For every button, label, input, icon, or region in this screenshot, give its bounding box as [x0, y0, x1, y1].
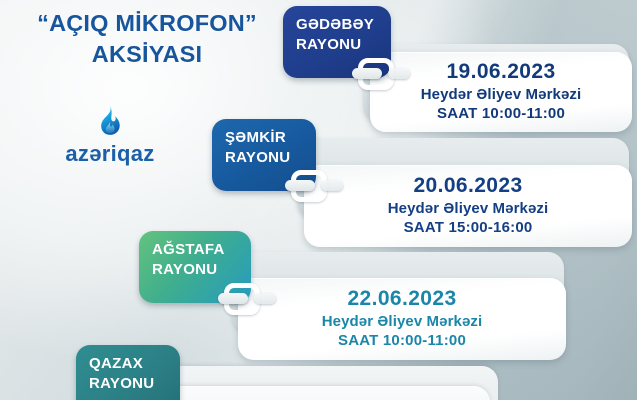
- district-tag-qazax[interactable]: QAZAX RAYONU: [76, 345, 180, 400]
- event-venue-3: Heydər Əliyev Mərkəzi: [322, 313, 483, 332]
- event-date-3: 22.06.2023: [347, 287, 456, 311]
- headline-line-2: AKSİYASI: [8, 39, 286, 70]
- event-date-2: 20.06.2023: [413, 174, 522, 198]
- event-date-1: 19.06.2023: [446, 60, 555, 84]
- azeriqaz-logo: azəriqaz: [54, 104, 166, 165]
- event-time-3: SAAT 10:00-11:00: [338, 332, 466, 351]
- district-tag-gedebey-line2: RAYONU: [296, 35, 379, 55]
- district-tag-qazax-line2: RAYONU: [89, 374, 168, 394]
- event-card-4[interactable]: [150, 386, 490, 400]
- event-card-2[interactable]: 20.06.2023 Heydər Əliyev Mərkəzi SAAT 15…: [304, 165, 632, 247]
- district-tag-agstafa-line1: AĞSTAFA: [152, 240, 239, 260]
- district-tag-semkir-line1: ŞƏMKİR: [225, 128, 304, 148]
- district-tag-qazax-line1: QAZAX: [89, 354, 168, 374]
- event-time-1: SAAT 10:00-11:00: [437, 105, 565, 124]
- district-tag-gedebey[interactable]: GƏDƏBƏY RAYONU: [283, 6, 391, 78]
- district-tag-semkir[interactable]: ŞƏMKİR RAYONU: [212, 119, 316, 191]
- district-tag-semkir-line2: RAYONU: [225, 148, 304, 168]
- district-tag-agstafa[interactable]: AĞSTAFA RAYONU: [139, 231, 251, 303]
- page-title: “AÇIQ MİKROFON” AKSİYASI: [8, 8, 286, 70]
- headline-line-1: “AÇIQ MİKROFON”: [37, 10, 257, 36]
- poster-canvas: “AÇIQ MİKROFON” AKSİYASI: [0, 0, 637, 400]
- event-time-2: SAAT 15:00-16:00: [404, 219, 533, 238]
- event-card-3[interactable]: 22.06.2023 Heydər Əliyev Mərkəzi SAAT 10…: [238, 278, 566, 360]
- district-tag-agstafa-line2: RAYONU: [152, 260, 239, 280]
- event-card-1[interactable]: 19.06.2023 Heydər Əliyev Mərkəzi SAAT 10…: [370, 52, 632, 132]
- flame-icon: [54, 104, 166, 141]
- event-venue-1: Heydər Əliyev Mərkəzi: [421, 86, 582, 105]
- district-tag-gedebey-line1: GƏDƏBƏY: [296, 15, 379, 35]
- event-venue-2: Heydər Əliyev Mərkəzi: [388, 200, 549, 219]
- logo-wordmark: azəriqaz: [54, 143, 166, 165]
